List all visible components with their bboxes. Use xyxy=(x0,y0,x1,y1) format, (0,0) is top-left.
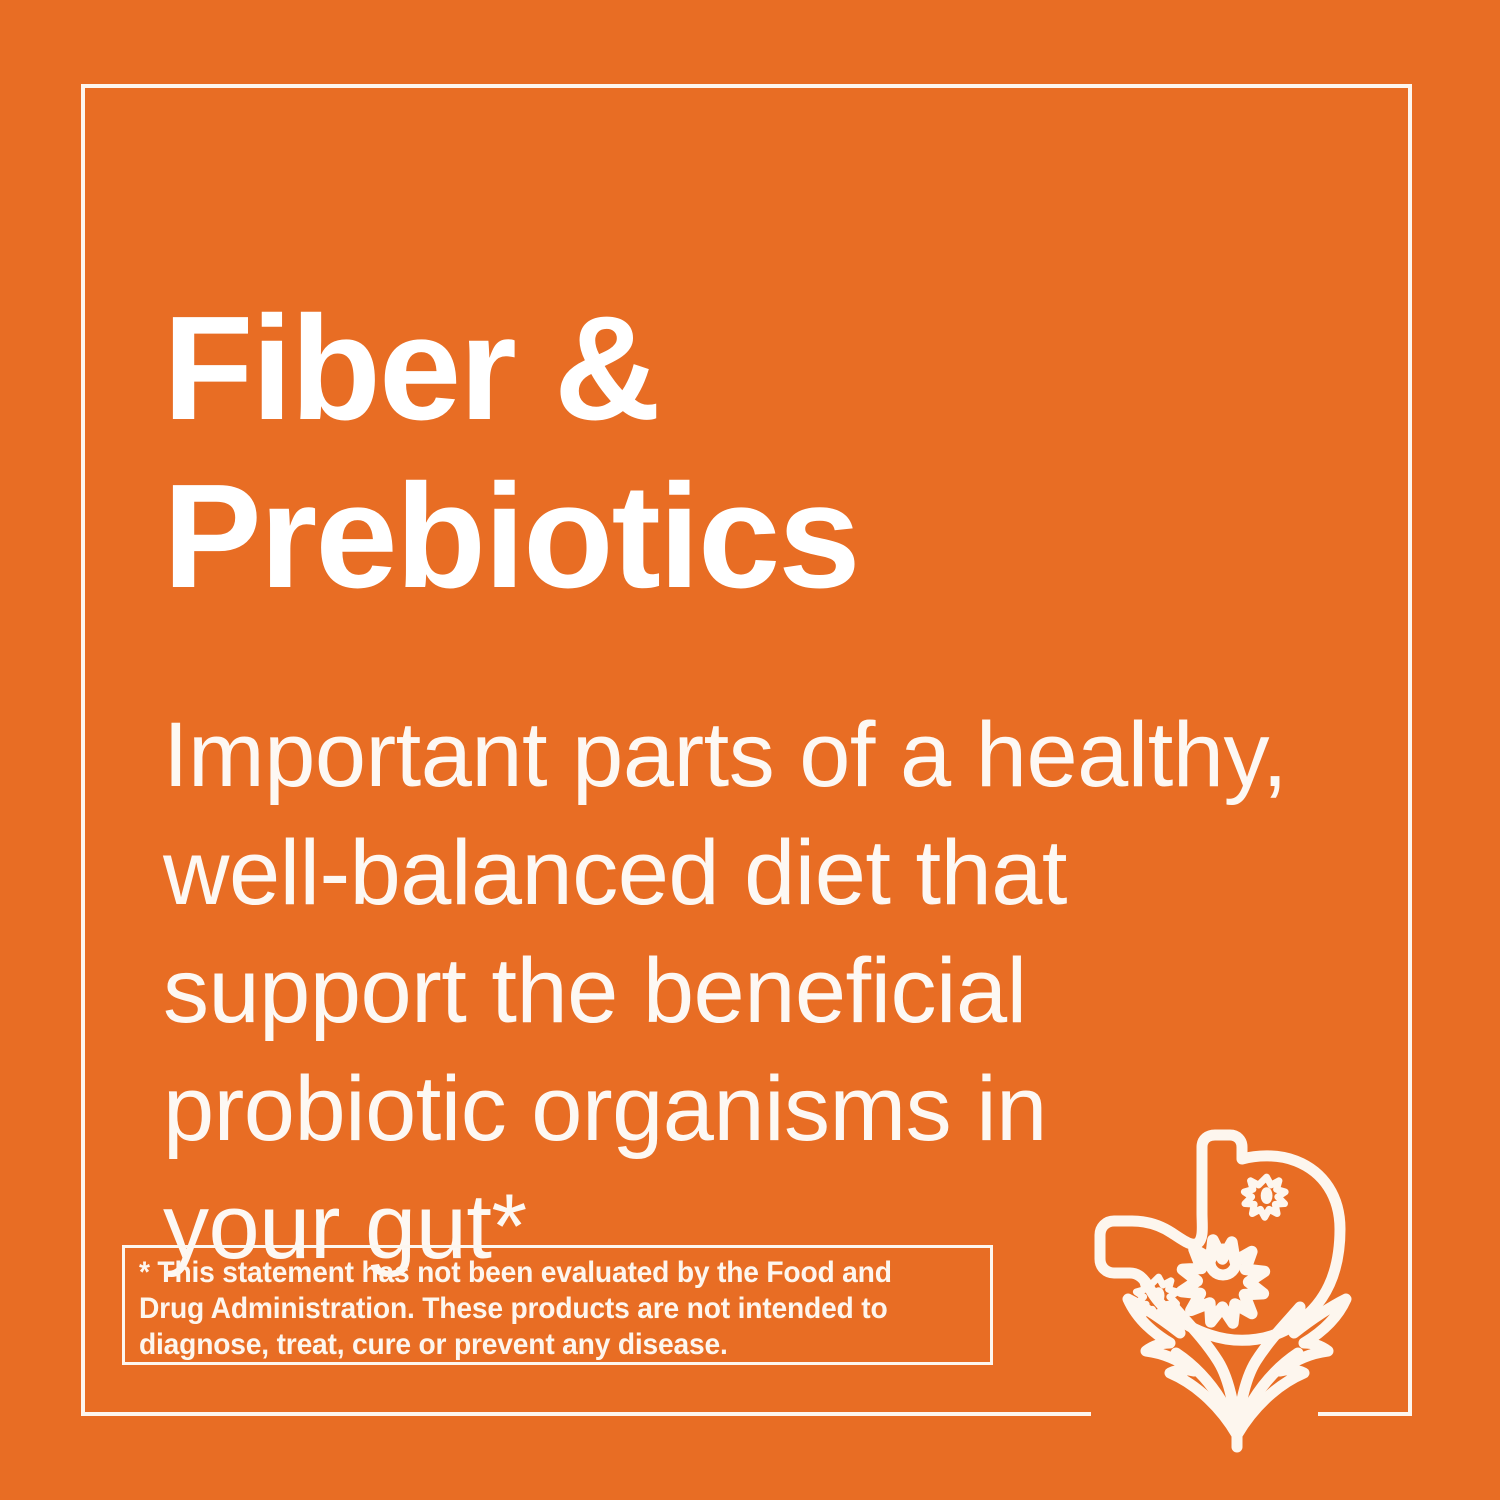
disclaimer-box: * This statement has not been evaluated … xyxy=(122,1245,993,1365)
frame-border-top xyxy=(81,84,1412,88)
stomach-with-probiotics-on-leaves-icon xyxy=(1052,1125,1422,1455)
page-title: Fiber & Prebiotics xyxy=(163,285,1263,621)
frame-border-left xyxy=(81,84,85,1416)
disclaimer-text: * This statement has not been evaluated … xyxy=(139,1255,933,1363)
marketing-infographic-card: Fiber & Prebiotics Important parts of a … xyxy=(0,0,1500,1500)
frame-border-bottom-left xyxy=(81,1412,1091,1416)
